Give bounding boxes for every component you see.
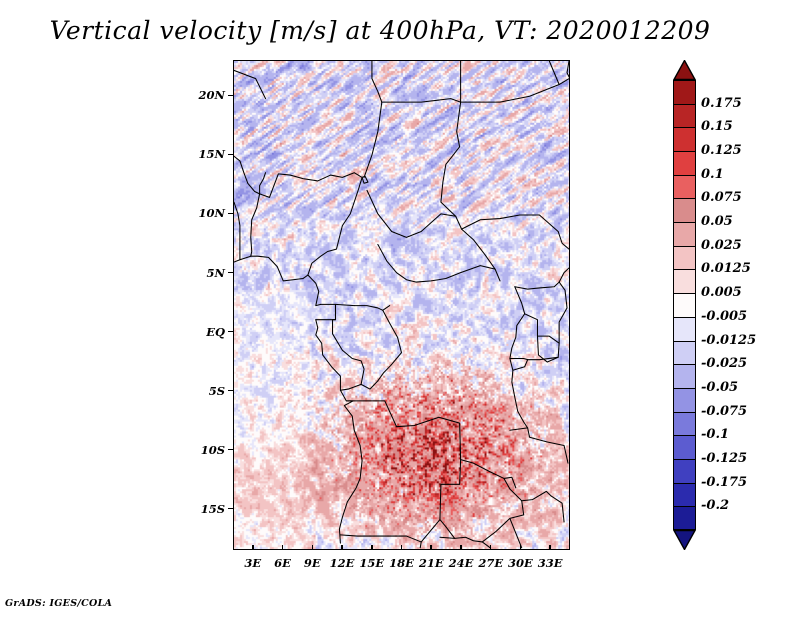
longitude-tick-mark bbox=[401, 545, 403, 550]
border-line bbox=[378, 244, 495, 282]
border-line bbox=[462, 215, 559, 231]
colorbar-tick-label: -0.0125 bbox=[701, 334, 756, 347]
border-line bbox=[367, 190, 456, 237]
border-line bbox=[362, 176, 368, 183]
border-line bbox=[321, 304, 354, 305]
border-line bbox=[383, 306, 390, 311]
border-line bbox=[364, 102, 382, 177]
colorbar-swatch bbox=[673, 412, 696, 436]
border-line bbox=[339, 390, 362, 543]
border-line bbox=[354, 306, 383, 311]
border-line bbox=[346, 401, 460, 460]
colorbar-tick-label: 0.125 bbox=[701, 144, 742, 157]
border-line bbox=[340, 535, 421, 542]
border-line bbox=[420, 520, 440, 548]
latitude-tick-mark bbox=[228, 390, 233, 392]
colorbar-swatch bbox=[673, 269, 696, 293]
colorbar-swatch bbox=[673, 506, 696, 530]
latitude-tick-label: 15N bbox=[185, 147, 225, 161]
colorbar-swatch bbox=[673, 435, 696, 459]
colorbar-tick-label: 0.005 bbox=[701, 286, 742, 299]
border-line bbox=[482, 501, 523, 542]
colorbar-swatch bbox=[673, 364, 696, 388]
colorbar-swatch bbox=[673, 483, 696, 507]
latitude-tick-mark bbox=[228, 508, 233, 510]
border-line bbox=[559, 268, 569, 282]
border-line bbox=[234, 156, 260, 194]
colorbar-swatch bbox=[673, 198, 696, 222]
latitude-tick-label: EQ bbox=[185, 325, 225, 339]
latitude-tick-label: 5N bbox=[185, 266, 225, 280]
latitude-tick-label: 5S bbox=[185, 384, 225, 398]
border-line bbox=[308, 275, 321, 306]
colorbar: 0.1750.150.1250.10.0750.050.0250.01250.0… bbox=[673, 60, 696, 550]
page-title: Vertical velocity [m/s] at 400hPa, VT: 2… bbox=[0, 16, 760, 45]
border-line bbox=[462, 229, 500, 281]
colorbar-tick-label: -0.125 bbox=[701, 452, 747, 465]
latitude-tick-mark bbox=[228, 154, 233, 156]
border-line bbox=[551, 496, 564, 522]
colorbar-extend-min-arrow bbox=[673, 530, 696, 550]
colorbar-tick-label: 0.175 bbox=[701, 97, 742, 110]
latitude-tick-label: 15S bbox=[185, 502, 225, 516]
border-line bbox=[461, 460, 510, 489]
latitude-tick-mark bbox=[228, 449, 233, 451]
border-line bbox=[361, 310, 401, 389]
border-line bbox=[382, 99, 461, 103]
border-line bbox=[251, 194, 260, 256]
attribution-label: GrADS: IGES/COLA bbox=[5, 598, 112, 609]
latitude-tick-mark bbox=[228, 331, 233, 333]
colorbar-swatch bbox=[673, 459, 696, 483]
longitude-tick-mark bbox=[430, 545, 432, 550]
latitude-tick-mark bbox=[228, 95, 233, 97]
colorbar-swatch bbox=[673, 80, 696, 104]
border-line bbox=[510, 287, 528, 428]
border-line bbox=[234, 256, 308, 281]
border-line bbox=[333, 334, 365, 390]
colorbar-tick-label: -0.005 bbox=[701, 310, 747, 323]
colorbar-tick-label: 0.15 bbox=[701, 120, 733, 133]
colorbar-tick-label: 0.1 bbox=[701, 168, 724, 181]
colorbar-swatch bbox=[673, 127, 696, 151]
border-line bbox=[558, 232, 569, 250]
border-line bbox=[441, 102, 462, 229]
longitude-tick-mark bbox=[549, 545, 551, 550]
latitude-tick-label: 10N bbox=[185, 206, 225, 220]
longitude-tick-mark bbox=[312, 545, 314, 550]
border-line bbox=[525, 314, 538, 336]
border-line bbox=[510, 489, 551, 501]
longitude-tick-mark bbox=[282, 545, 284, 550]
border-line bbox=[549, 61, 559, 85]
colorbar-tick-label: -0.175 bbox=[701, 476, 747, 489]
latitude-tick-label: 10S bbox=[185, 443, 225, 457]
colorbar-tick-label: -0.1 bbox=[701, 428, 729, 441]
colorbar-tick-label: 0.075 bbox=[701, 191, 742, 204]
border-line bbox=[234, 70, 266, 98]
border-line bbox=[513, 360, 528, 371]
colorbar-swatch bbox=[673, 151, 696, 175]
colorbar-swatch bbox=[673, 317, 696, 341]
border-line bbox=[440, 460, 461, 539]
border-line bbox=[547, 442, 568, 463]
colorbar-tick-label: -0.075 bbox=[701, 405, 747, 418]
colorbar-extend-max-arrow bbox=[673, 60, 696, 80]
colorbar-tick-label: -0.05 bbox=[701, 381, 738, 394]
border-line bbox=[461, 79, 569, 103]
colorbar-tick-label: 0.0125 bbox=[701, 262, 751, 275]
longitude-tick-mark bbox=[341, 545, 343, 550]
border-line bbox=[559, 282, 567, 343]
longitude-tick-mark bbox=[252, 545, 254, 550]
border-line bbox=[234, 202, 240, 260]
colorbar-tick-label: -0.2 bbox=[701, 499, 729, 512]
border-line bbox=[510, 518, 522, 547]
country-borders-overlay bbox=[234, 61, 569, 549]
colorbar-swatch bbox=[673, 293, 696, 317]
longitude-tick-mark bbox=[490, 545, 492, 550]
border-line bbox=[333, 304, 336, 333]
longitude-tick-mark bbox=[371, 545, 373, 550]
colorbar-swatch bbox=[673, 175, 696, 199]
border-line bbox=[515, 282, 559, 289]
colorbar-tick-label: -0.025 bbox=[701, 357, 747, 370]
border-line bbox=[260, 173, 362, 198]
colorbar-swatch bbox=[673, 104, 696, 128]
border-line bbox=[440, 537, 482, 542]
border-line bbox=[260, 173, 266, 194]
colorbar-tick-label: 0.05 bbox=[701, 215, 733, 228]
colorbar-swatch bbox=[673, 222, 696, 246]
border-line bbox=[372, 61, 382, 102]
colorbar-swatch bbox=[673, 388, 696, 412]
map-plot-area bbox=[233, 60, 570, 550]
longitude-tick-label: 33E bbox=[530, 556, 570, 570]
latitude-tick-mark bbox=[228, 272, 233, 274]
longitude-tick-mark bbox=[520, 545, 522, 550]
border-line bbox=[510, 428, 547, 442]
longitude-tick-mark bbox=[460, 545, 462, 550]
border-line bbox=[510, 359, 528, 360]
colorbar-tick-label: 0.025 bbox=[701, 239, 742, 252]
latitude-tick-label: 20N bbox=[185, 88, 225, 102]
colorbar-swatch bbox=[673, 246, 696, 270]
border-line bbox=[316, 320, 341, 391]
latitude-tick-mark bbox=[228, 213, 233, 215]
border-line bbox=[308, 177, 362, 275]
colorbar-swatch bbox=[673, 341, 696, 365]
